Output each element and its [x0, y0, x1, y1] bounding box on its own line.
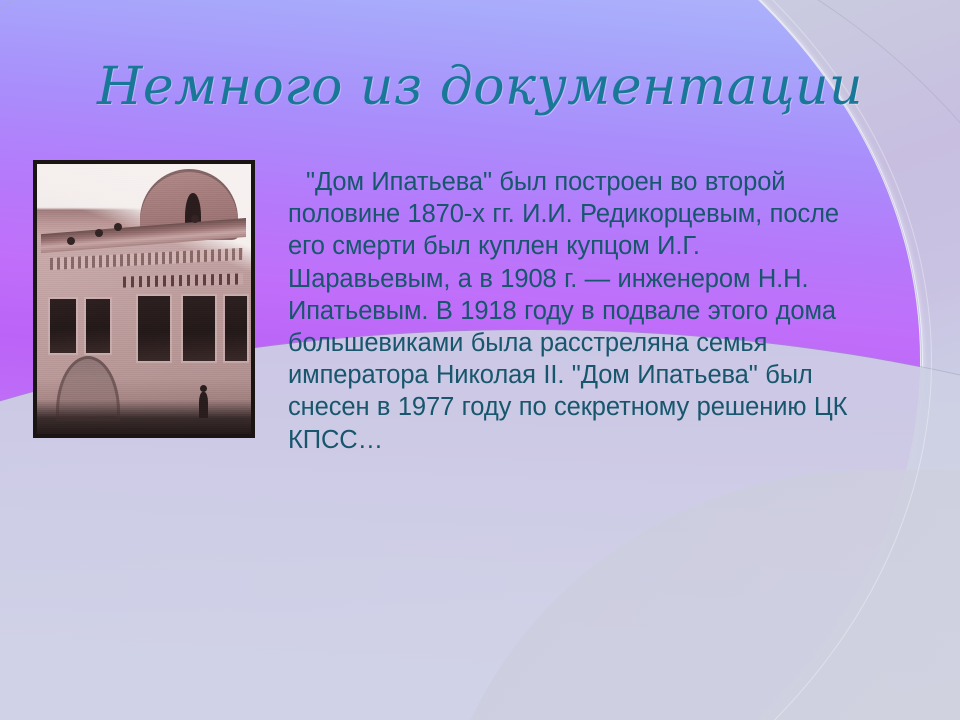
body-paragraph: "Дом Ипатьева" был построен во второй по…: [288, 166, 848, 456]
ipatiev-house-photo: [33, 160, 255, 438]
photo-grain-overlay: [37, 164, 251, 434]
slide-content: Немного из документации: [0, 0, 960, 720]
presentation-slide: Немного из документации: [0, 0, 960, 720]
photo-image: [37, 164, 251, 434]
body-text-block: "Дом Ипатьева" был построен во второй по…: [288, 166, 848, 456]
page-title: Немного из документации: [0, 56, 960, 118]
